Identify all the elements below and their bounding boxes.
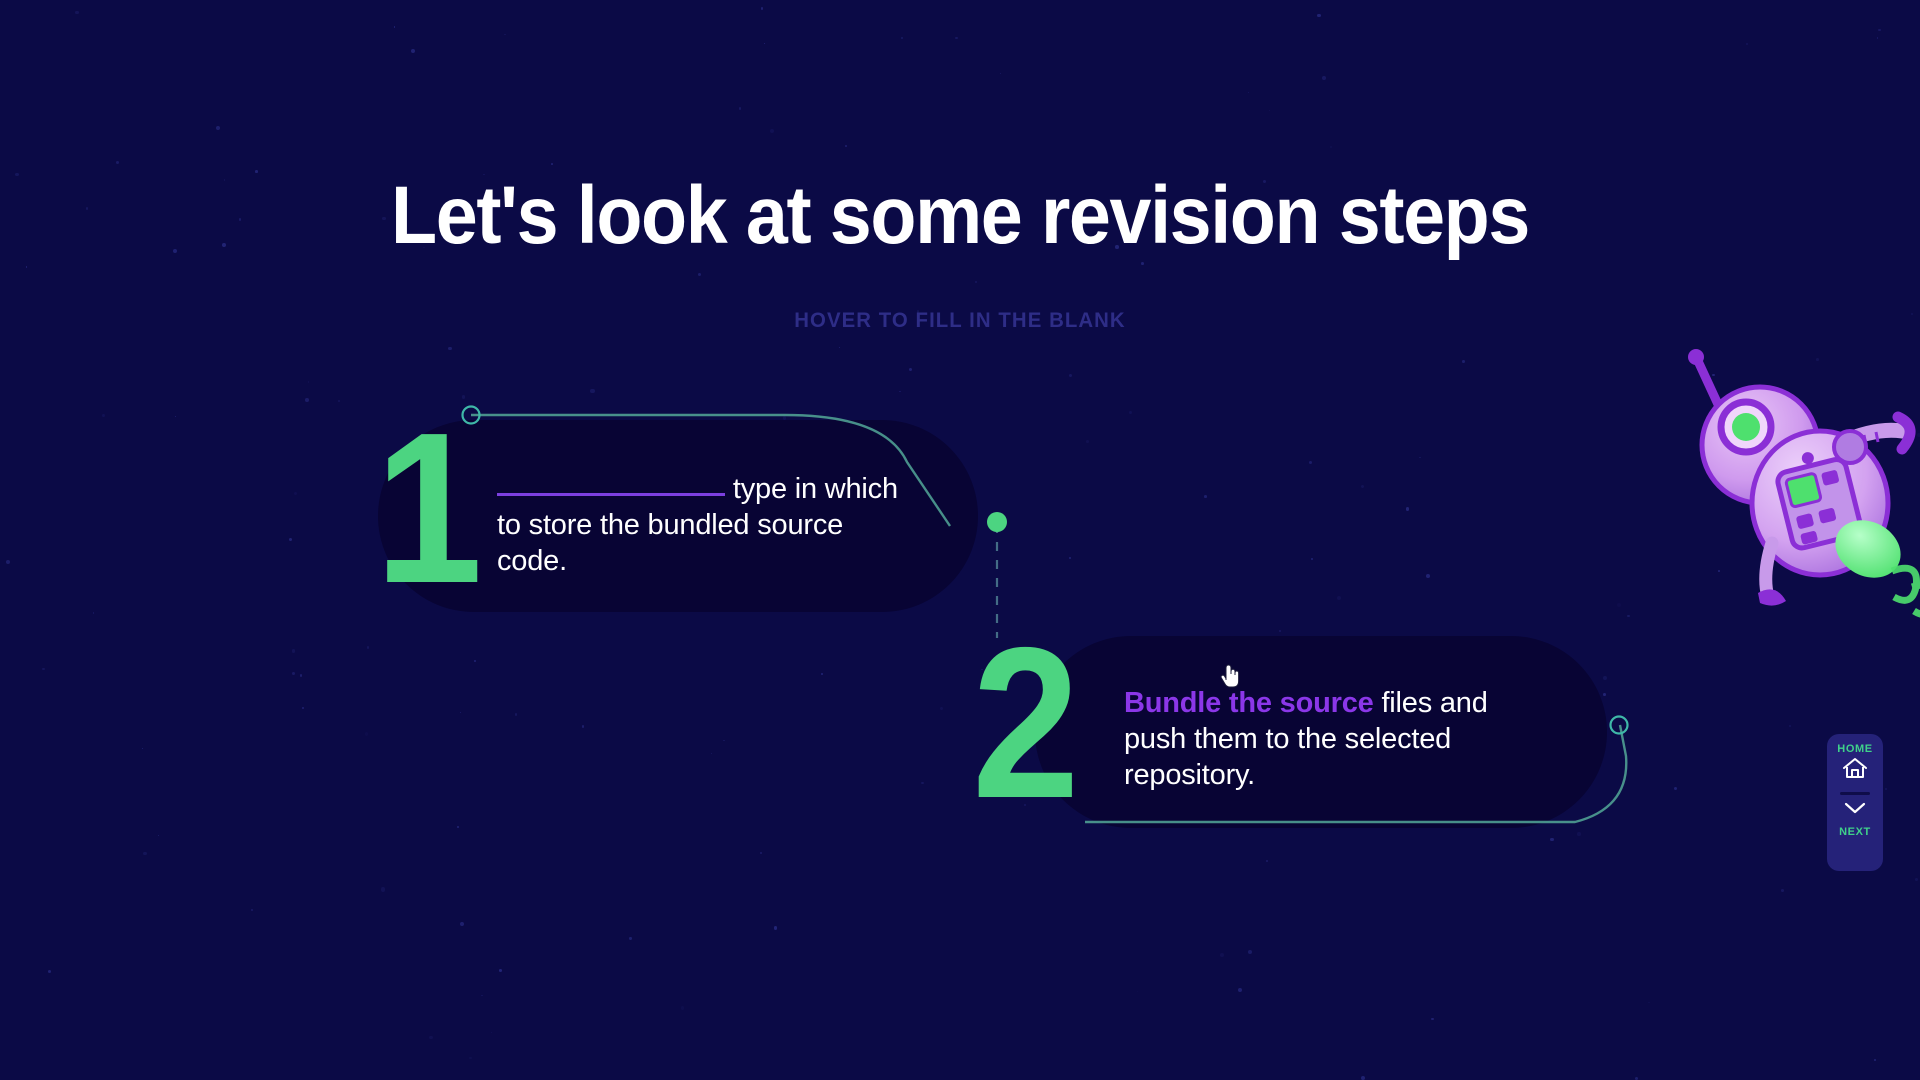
- step-link-node: [987, 512, 1007, 532]
- robot-mascot-illustration: [1680, 335, 1920, 630]
- step-1-blank[interactable]: [497, 470, 725, 496]
- step-1-text: type in which to store the bundled sourc…: [497, 470, 917, 580]
- nav-home-label: HOME: [1837, 743, 1872, 755]
- nav-divider: [1840, 792, 1870, 795]
- chevron-down-icon[interactable]: [1841, 799, 1869, 822]
- page-header: Let's look at some revision steps HOVER …: [0, 0, 1920, 333]
- robot-foot: [1758, 589, 1786, 605]
- step-2-highlight: Bundle the source: [1124, 687, 1374, 719]
- step-2-numeral: 2: [972, 615, 1074, 830]
- step-1-numeral: 1: [375, 400, 477, 615]
- side-nav-widget[interactable]: HOME NEXT: [1827, 734, 1883, 871]
- nav-next-label: NEXT: [1839, 826, 1871, 838]
- step-2-end-node: [1611, 717, 1628, 734]
- step-2-text: Bundle the source files and push them to…: [1124, 686, 1554, 794]
- page-subtitle: HOVER TO FILL IN THE BLANK: [29, 309, 1891, 333]
- page-title: Let's look at some revision steps: [77, 175, 1843, 257]
- house-icon[interactable]: [1841, 755, 1869, 786]
- robot-leg: [1766, 543, 1772, 597]
- robot-exhaust-trail: [1892, 568, 1920, 619]
